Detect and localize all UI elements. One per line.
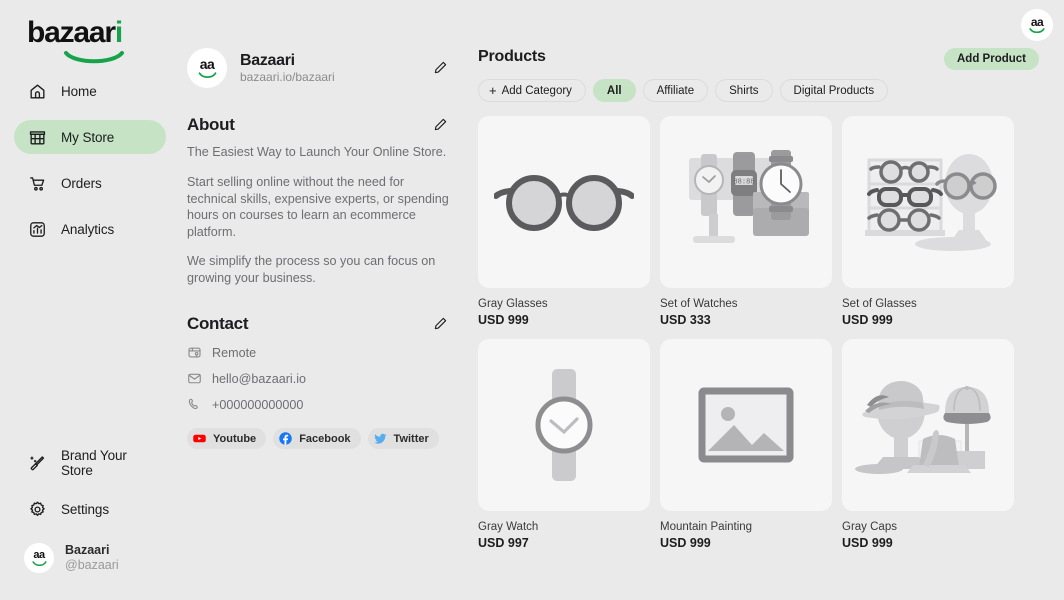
store-info-panel: aa Bazaari bazaari.io/bazaari About The … — [180, 0, 470, 600]
logo-smile-icon — [63, 51, 125, 65]
glasses-set-icon — [853, 142, 1003, 262]
product-card[interactable]: Gray Watch USD 997 — [478, 339, 650, 551]
sidebar-item-label-analytics: Analytics — [61, 222, 114, 237]
svg-text:88:88: 88:88 — [733, 179, 754, 187]
product-card[interactable]: Gray Glasses USD 999 — [478, 116, 650, 328]
contact-row-email: hello@bazaari.io — [187, 371, 454, 386]
sidebar-nav: Home My Store Orders — [14, 74, 166, 258]
store-avatar-smile-icon — [198, 72, 217, 78]
app-logo[interactable]: bazaari — [27, 18, 157, 64]
product-image — [842, 116, 1014, 288]
contact-title: Contact — [187, 314, 454, 334]
product-price: USD 333 — [660, 313, 832, 328]
profile-handle: @bazaari — [65, 558, 119, 573]
sidebar-item-brand-your-store[interactable]: Brand Your Store — [14, 446, 166, 480]
sidebar-nav-bottom: Brand Your Store Settings — [14, 446, 166, 538]
twitter-icon — [373, 431, 388, 446]
logo-accent-letter: i — [115, 16, 122, 49]
product-image — [842, 339, 1014, 511]
profile-name: Bazaari — [65, 543, 119, 558]
edit-contact-pencil-icon[interactable] — [433, 316, 448, 331]
product-name: Set of Glasses — [842, 297, 1014, 311]
social-link-youtube[interactable]: Youtube — [187, 428, 266, 449]
logo-text-main: bazaar — [27, 16, 115, 49]
envelope-icon — [187, 371, 202, 386]
store-url: bazaari.io/bazaari — [240, 70, 335, 85]
product-image — [660, 339, 832, 511]
product-name: Mountain Painting — [660, 520, 832, 534]
product-image — [478, 116, 650, 288]
product-price: USD 997 — [478, 536, 650, 551]
contact-location-text: Remote — [212, 346, 256, 360]
product-card[interactable]: Set of Glasses USD 999 — [842, 116, 1014, 328]
social-label-youtube: Youtube — [213, 433, 256, 445]
avatar-initials: aa — [33, 551, 44, 560]
phone-icon — [187, 397, 202, 412]
watch-set-icon: 88:88 — [671, 142, 821, 262]
social-label-facebook: Facebook — [299, 433, 350, 445]
store-avatar-initials: aa — [200, 58, 215, 70]
products-panel: aa Add Product Products + Add Category A… — [470, 0, 1064, 600]
store-icon — [28, 128, 47, 147]
about-title: About — [187, 115, 454, 135]
contact-section: Contact Remote hello@bazaari.io — [187, 314, 454, 449]
about-section: About The Easiest Way to Launch Your Onl… — [187, 115, 454, 286]
tab-label-add-category: Add Category — [502, 85, 572, 97]
product-price: USD 999 — [842, 536, 1014, 551]
edit-about-pencil-icon[interactable] — [433, 117, 448, 132]
plus-icon: + — [489, 85, 497, 96]
sidebar-item-label-brand: Brand Your Store — [61, 448, 152, 478]
avatar-smile-icon — [32, 561, 47, 566]
watch-icon — [519, 365, 609, 485]
location-icon — [187, 345, 202, 360]
logo-wordmark: bazaari — [27, 18, 157, 48]
sidebar-item-label-settings: Settings — [61, 502, 109, 517]
painting-icon — [698, 387, 794, 463]
social-link-twitter[interactable]: Twitter — [368, 428, 439, 449]
topbar-avatar[interactable]: aa — [1021, 9, 1053, 41]
tab-digital-products[interactable]: Digital Products — [780, 79, 889, 102]
sidebar-item-orders[interactable]: Orders — [14, 166, 166, 200]
sidebar-item-analytics[interactable]: Analytics — [14, 212, 166, 246]
edit-store-pencil-icon[interactable] — [433, 60, 448, 75]
store-avatar: aa — [187, 48, 227, 88]
contact-row-location: Remote — [187, 345, 454, 360]
product-name: Gray Caps — [842, 520, 1014, 534]
tab-add-category[interactable]: + Add Category — [478, 79, 586, 102]
sidebar-item-home[interactable]: Home — [14, 74, 166, 108]
product-card[interactable]: Mountain Painting USD 999 — [660, 339, 832, 551]
sidebar-profile[interactable]: aa Bazaari @bazaari — [24, 543, 119, 573]
analytics-icon — [28, 220, 47, 239]
youtube-icon — [192, 431, 207, 446]
tab-all[interactable]: All — [593, 79, 636, 102]
product-grid: Gray Glasses USD 999 88:88 — [478, 116, 1034, 551]
tab-shirts[interactable]: Shirts — [715, 79, 772, 102]
facebook-icon — [278, 431, 293, 446]
about-paragraph-2: We simplify the process so you can focus… — [187, 253, 452, 286]
about-paragraph-1: Start selling online without the need fo… — [187, 174, 452, 240]
store-name: Bazaari — [240, 51, 335, 70]
sidebar-item-my-store[interactable]: My Store — [14, 120, 166, 154]
contact-row-phone: +000000000000 — [187, 397, 454, 412]
social-label-twitter: Twitter — [394, 433, 429, 445]
sidebar-item-label-my-store: My Store — [61, 130, 114, 145]
tab-affiliate[interactable]: Affiliate — [643, 79, 709, 102]
product-image — [478, 339, 650, 511]
topbar-avatar-smile-icon — [1029, 28, 1045, 33]
caps-icon — [853, 365, 1003, 485]
social-link-facebook[interactable]: Facebook — [273, 428, 360, 449]
topbar-avatar-initials: aa — [1031, 17, 1043, 27]
product-name: Set of Watches — [660, 297, 832, 311]
product-price: USD 999 — [478, 313, 650, 328]
app-root: bazaari Home My Store — [0, 0, 1064, 600]
product-price: USD 999 — [660, 536, 832, 551]
sidebar-item-settings[interactable]: Settings — [14, 492, 166, 526]
sidebar-item-label-home: Home — [61, 84, 97, 99]
magic-wand-icon — [28, 454, 47, 473]
sidebar-item-label-orders: Orders — [61, 176, 102, 191]
contact-email-text: hello@bazaari.io — [212, 372, 306, 386]
product-card[interactable]: Gray Caps USD 999 — [842, 339, 1014, 551]
category-tabs: + Add Category All Affiliate Shirts Digi… — [478, 79, 1034, 102]
social-links: Youtube Facebook Twitter — [187, 428, 454, 449]
product-price: USD 999 — [842, 313, 1014, 328]
product-card[interactable]: 88:88 Set of Watches USD 333 — [660, 116, 832, 328]
product-name: Gray Watch — [478, 520, 650, 534]
gear-icon — [28, 500, 47, 519]
cart-icon — [28, 174, 47, 193]
home-icon — [28, 82, 47, 101]
about-lead: The Easiest Way to Launch Your Online St… — [187, 144, 454, 161]
product-image: 88:88 — [660, 116, 832, 288]
glasses-icon — [494, 167, 634, 237]
product-name: Gray Glasses — [478, 297, 650, 311]
contact-phone-text: +000000000000 — [212, 398, 303, 412]
store-header: aa Bazaari bazaari.io/bazaari — [187, 48, 454, 88]
avatar: aa — [24, 543, 54, 573]
add-product-button[interactable]: Add Product — [944, 48, 1039, 70]
sidebar: bazaari Home My Store — [0, 0, 180, 600]
